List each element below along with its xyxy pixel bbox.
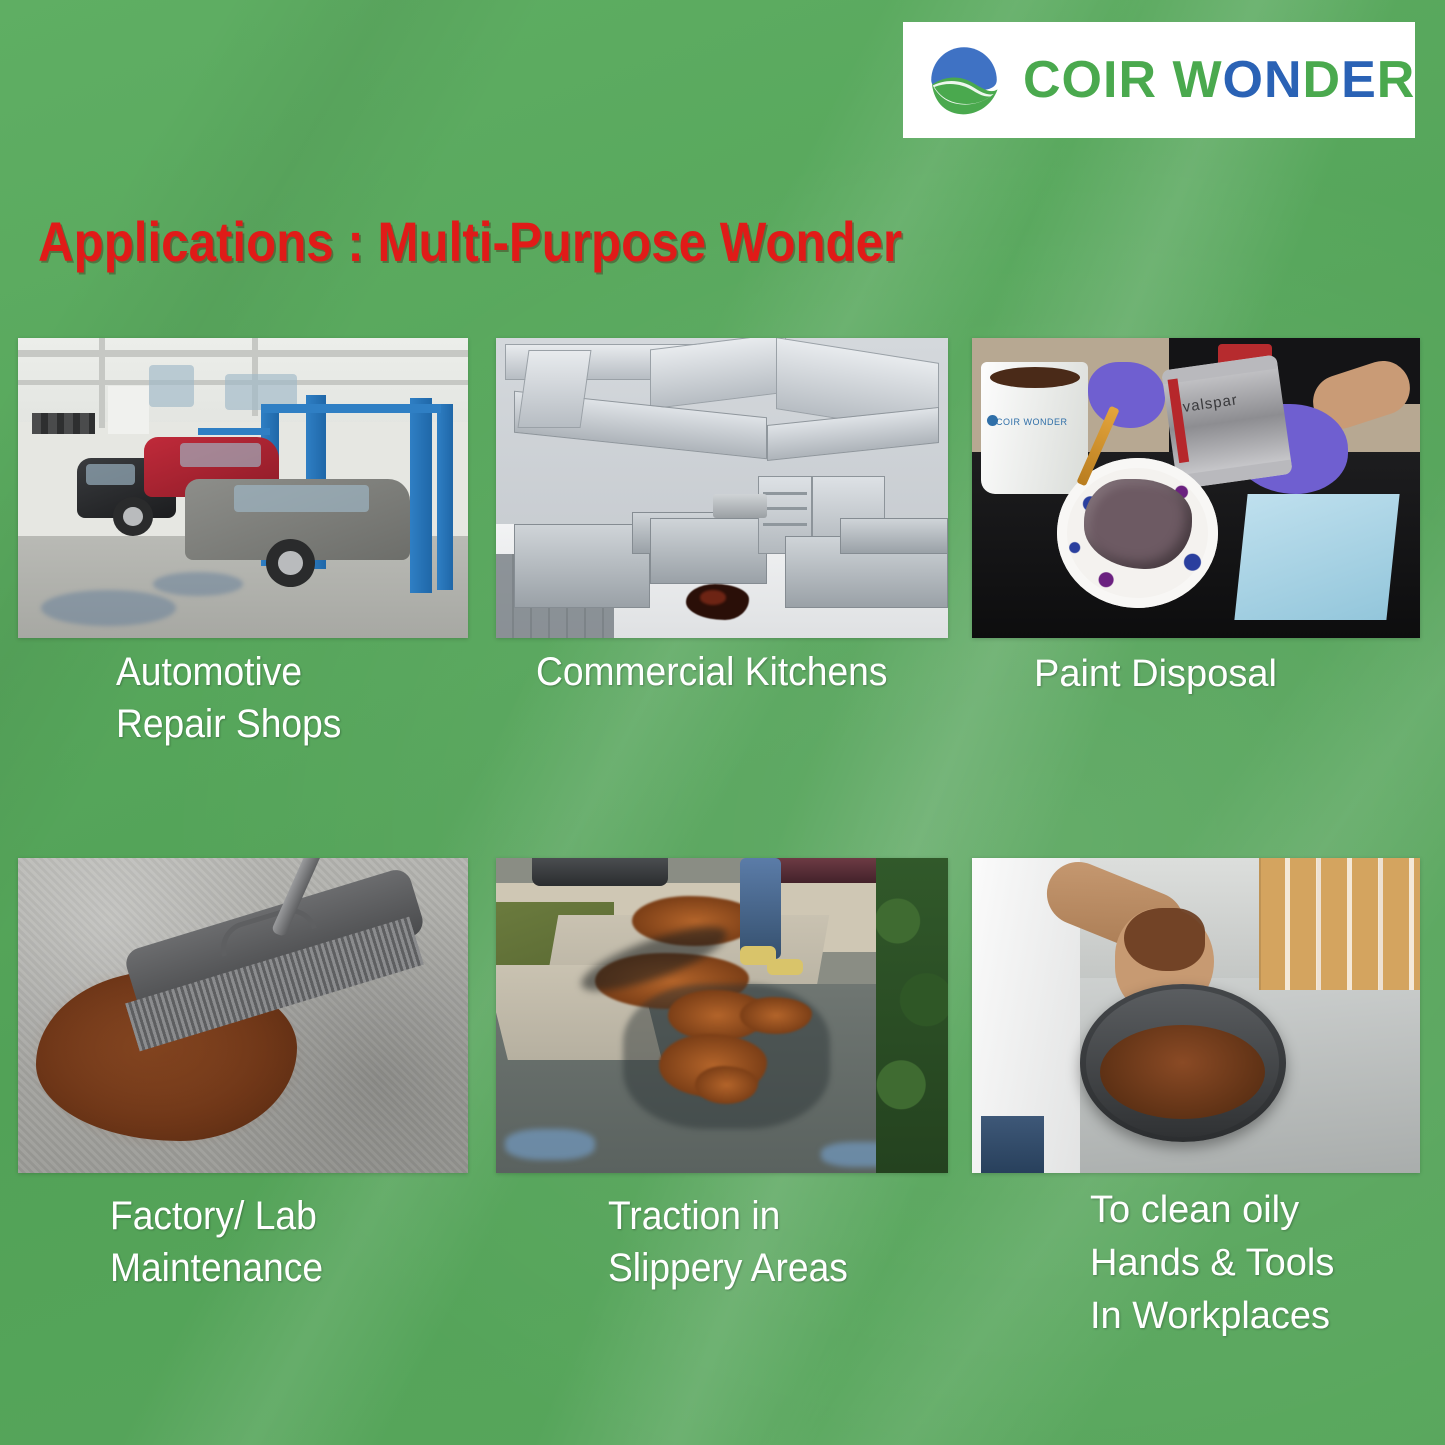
caption-clean-oily-hands-and-tools: To clean oily Hands & Tools In Workplace… (1090, 1184, 1334, 1343)
photo-automotive-repair-shops (18, 338, 468, 638)
caption-commercial-kitchens: Commercial Kitchens (536, 646, 887, 698)
bucket-brand-label: COIR WONDER (996, 417, 1068, 427)
logo-word-wonder: WONDER (1172, 51, 1415, 109)
blue-cloth (1234, 494, 1400, 620)
photo-factory-lab-maintenance (18, 858, 468, 1173)
photo-paint-disposal: COIR WONDER valspar (972, 338, 1420, 638)
paint-can-brand-label: valspar (1182, 392, 1239, 417)
brand-logo: COIR WONDER (903, 22, 1415, 138)
coir-on-hand (1124, 908, 1205, 971)
photo-traction-in-slippery-areas (496, 858, 948, 1173)
photo-commercial-kitchens (496, 338, 948, 638)
coir-wonder-bucket: COIR WONDER (981, 362, 1089, 494)
caption-factory-lab-maintenance: Factory/ Lab Maintenance (110, 1190, 323, 1294)
sun-leaf-circle-logo-icon (925, 41, 1003, 119)
brand-logo-wordmark: COIR WONDER (1023, 50, 1415, 110)
page-title: Applications : Multi-Purpose Wonder (38, 209, 902, 274)
caption-paint-disposal: Paint Disposal (1034, 648, 1277, 701)
logo-word-coir: COIR (1023, 51, 1157, 109)
caption-traction-in-slippery-areas: Traction in Slippery Areas (608, 1190, 848, 1294)
caption-automotive-repair-shops: Automotive Repair Shops (116, 646, 341, 750)
solidified-paint (1084, 479, 1192, 569)
coir-bowl (1080, 984, 1286, 1142)
photo-clean-oily-hands-and-tools (972, 858, 1420, 1173)
